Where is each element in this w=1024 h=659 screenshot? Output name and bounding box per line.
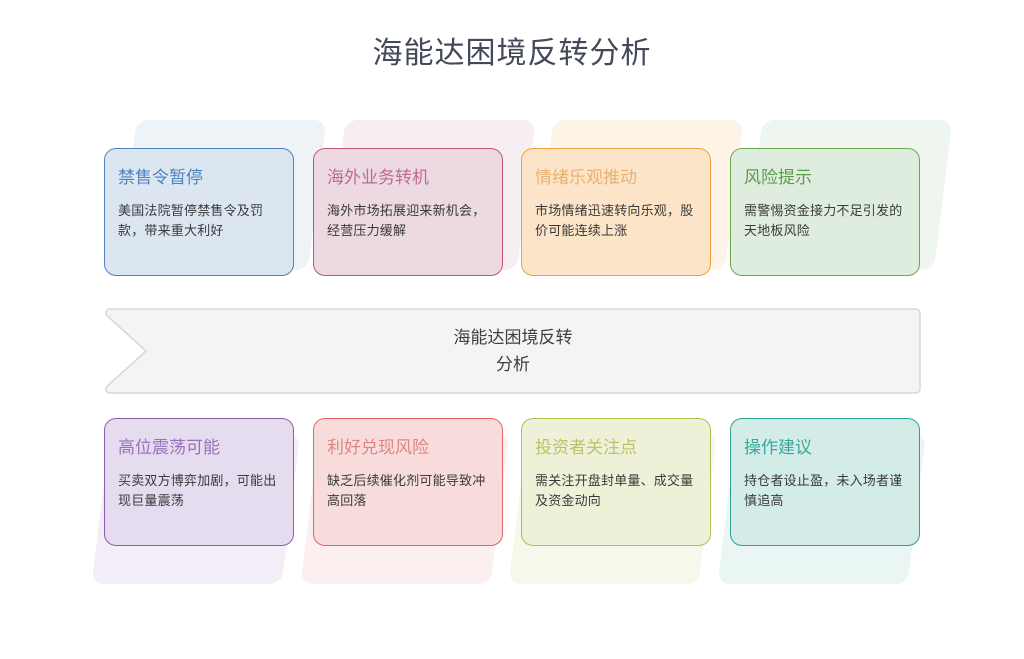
diagram-canvas: 海能达困境反转分析 禁售令暂停 美国法院暂停禁售令及罚款，带来重大利好 海外业务…: [0, 0, 1024, 659]
card-title: 投资者关注点: [535, 437, 697, 459]
card-description: 持仓者设止盈，未入场者谨慎追高: [744, 471, 906, 511]
card-body[interactable]: 利好兑现风险 缺乏后续催化剂可能导致冲高回落: [313, 418, 503, 546]
card-description: 买卖双方博弈加剧，可能出现巨量震荡: [118, 471, 280, 511]
card-description: 需关注开盘封单量、成交量及资金动向: [535, 471, 697, 511]
card-bottom-2[interactable]: 利好兑现风险 缺乏后续催化剂可能导致冲高回落: [313, 418, 503, 578]
card-top-1[interactable]: 禁售令暂停 美国法院暂停禁售令及罚款，带来重大利好: [104, 132, 294, 292]
card-description: 市场情绪迅速转向乐观，股价可能连续上涨: [535, 201, 697, 241]
page-title: 海能达困境反转分析: [0, 34, 1024, 74]
card-body[interactable]: 禁售令暂停 美国法院暂停禁售令及罚款，带来重大利好: [104, 148, 294, 276]
card-description: 需警惕资金接力不足引发的天地板风险: [744, 201, 906, 241]
card-body[interactable]: 情绪乐观推动 市场情绪迅速转向乐观，股价可能连续上涨: [521, 148, 711, 276]
card-body[interactable]: 高位震荡可能 买卖双方博弈加剧，可能出现巨量震荡: [104, 418, 294, 546]
ribbon-label-line2: 分析: [496, 351, 530, 378]
card-bottom-4[interactable]: 操作建议 持仓者设止盈，未入场者谨慎追高: [730, 418, 920, 578]
card-title: 高位震荡可能: [118, 437, 280, 459]
card-body[interactable]: 海外业务转机 海外市场拓展迎来新机会，经营压力缓解: [313, 148, 503, 276]
card-description: 海外市场拓展迎来新机会，经营压力缓解: [327, 201, 489, 241]
card-top-4[interactable]: 风险提示 需警惕资金接力不足引发的天地板风险: [730, 132, 920, 292]
card-bottom-1[interactable]: 高位震荡可能 买卖双方博弈加剧，可能出现巨量震荡: [104, 418, 294, 578]
ribbon-label-line1: 海能达困境反转: [454, 324, 573, 351]
card-top-3[interactable]: 情绪乐观推动 市场情绪迅速转向乐观，股价可能连续上涨: [521, 132, 711, 292]
card-body[interactable]: 风险提示 需警惕资金接力不足引发的天地板风险: [730, 148, 920, 276]
card-title: 操作建议: [744, 437, 906, 459]
card-bottom-3[interactable]: 投资者关注点 需关注开盘封单量、成交量及资金动向: [521, 418, 711, 578]
card-top-2[interactable]: 海外业务转机 海外市场拓展迎来新机会，经营压力缓解: [313, 132, 503, 292]
ribbon-label: 海能达困境反转 分析: [104, 306, 922, 396]
card-title: 风险提示: [744, 167, 906, 189]
card-body[interactable]: 投资者关注点 需关注开盘封单量、成交量及资金动向: [521, 418, 711, 546]
card-description: 美国法院暂停禁售令及罚款，带来重大利好: [118, 201, 280, 241]
bottom-card-row: 高位震荡可能 买卖双方博弈加剧，可能出现巨量震荡 利好兑现风险 缺乏后续催化剂可…: [0, 418, 1024, 578]
card-title: 利好兑现风险: [327, 437, 489, 459]
top-card-row: 禁售令暂停 美国法院暂停禁售令及罚款，带来重大利好 海外业务转机 海外市场拓展迎…: [0, 132, 1024, 292]
card-title: 情绪乐观推动: [535, 167, 697, 189]
center-ribbon-banner: 海能达困境反转 分析: [104, 306, 922, 396]
card-body[interactable]: 操作建议 持仓者设止盈，未入场者谨慎追高: [730, 418, 920, 546]
card-title: 禁售令暂停: [118, 167, 280, 189]
card-description: 缺乏后续催化剂可能导致冲高回落: [327, 471, 489, 511]
card-title: 海外业务转机: [327, 167, 489, 189]
